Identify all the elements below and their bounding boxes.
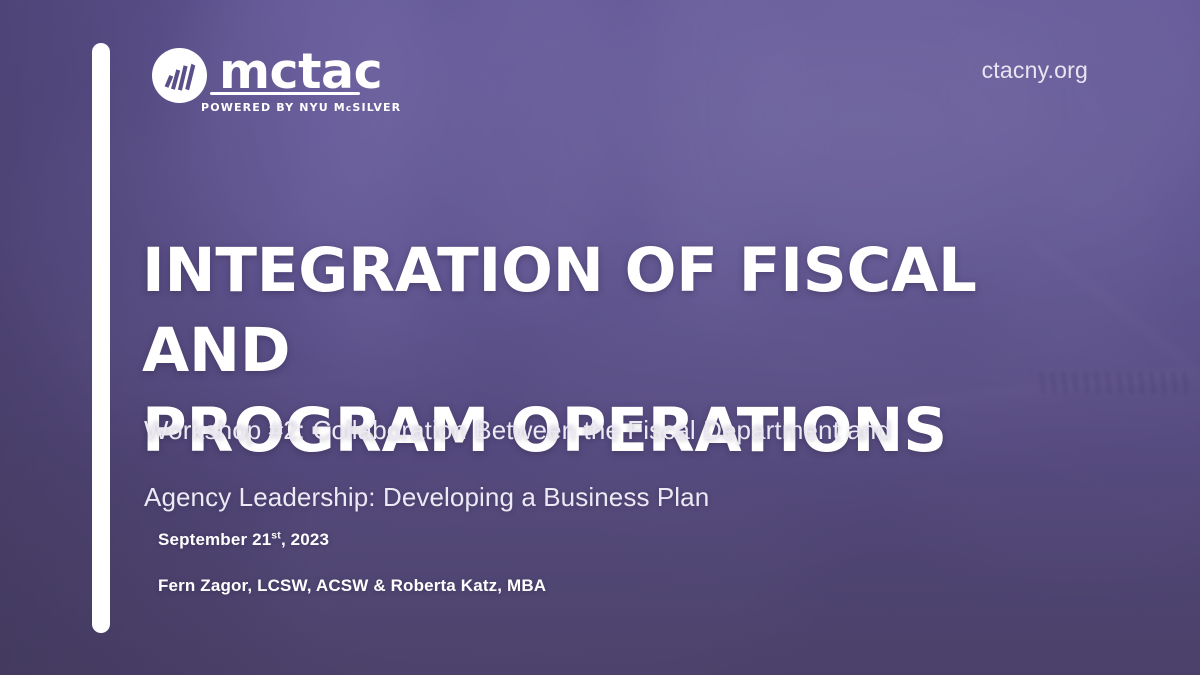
presenter-names: Fern Zagor, LCSW, ACSW & Roberta Katz, M… bbox=[158, 574, 546, 597]
logo-tagline-suffix: SILVER bbox=[352, 101, 401, 114]
date-year: , 2023 bbox=[281, 530, 329, 549]
page-subtitle-line-1: Workshop #2: Collaboration Between the F… bbox=[144, 415, 891, 445]
logo-tagline: POWERED BY NYU McSILVER bbox=[201, 101, 371, 114]
date-month-day: September 21 bbox=[158, 530, 271, 549]
page-subtitle: Workshop #2: Collaboration Between the F… bbox=[144, 397, 1074, 531]
mctac-bar-chart-circle-icon bbox=[152, 48, 207, 103]
website-url[interactable]: ctacny.org bbox=[982, 57, 1088, 84]
title-slide: mctac POWERED BY NYU McSILVER ctacny.org… bbox=[0, 0, 1200, 675]
left-accent-bar bbox=[92, 43, 110, 633]
page-title-line-1: INTEGRATION OF FISCAL AND bbox=[142, 235, 977, 386]
logo-tagline-prefix: POWERED BY NYU M bbox=[201, 101, 346, 114]
page-subtitle-line-2: Agency Leadership: Developing a Business… bbox=[144, 482, 709, 512]
logo-divider bbox=[210, 92, 360, 95]
slide-meta: September 21st, 2023 Fern Zagor, LCSW, A… bbox=[158, 528, 546, 597]
background-notebook-spiral-icon bbox=[1040, 372, 1200, 398]
date-ordinal-suffix: st bbox=[271, 529, 281, 541]
mctac-logo: mctac POWERED BY NYU McSILVER bbox=[152, 44, 367, 128]
presentation-date: September 21st, 2023 bbox=[158, 528, 546, 551]
